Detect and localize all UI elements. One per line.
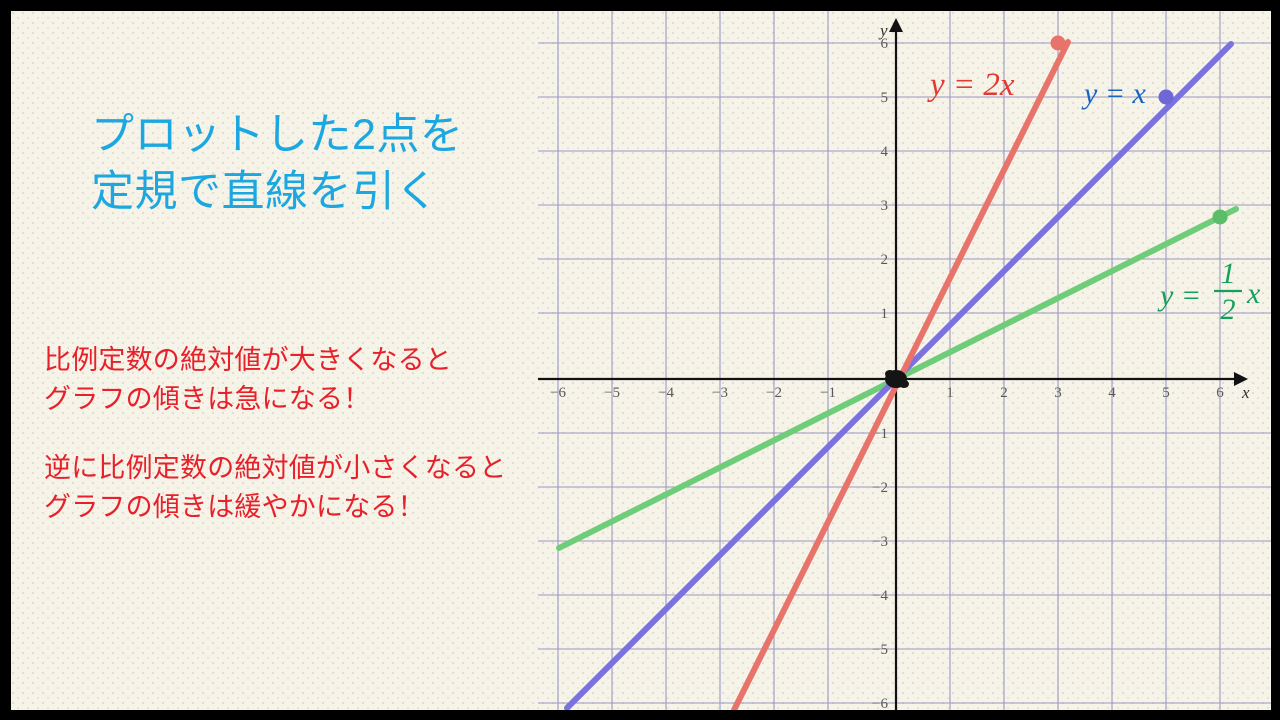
page-title: プロットした2点を 定規で直線を引く [91, 107, 463, 221]
coordinate-graph: −6 −5 −4 −3 −2 −1 1 2 3 4 5 6 6 5 4 3 2 … [538, 11, 1271, 710]
svg-text:4: 4 [1108, 385, 1116, 401]
svg-text:−3: −3 [872, 534, 888, 550]
point-marker-blue [1159, 90, 1174, 105]
svg-text:1: 1 [881, 306, 889, 322]
svg-text:1: 1 [1221, 257, 1236, 290]
slide-canvas: −6 −5 −4 −3 −2 −1 1 2 3 4 5 6 6 5 4 3 2 … [11, 11, 1271, 710]
equation-label-red: y = 2x [927, 67, 1015, 103]
note-text-2: 逆に比例定数の絶対値が小さくなると グラフの傾きは緩やかになる！ [44, 449, 506, 527]
svg-text:−3: −3 [712, 385, 728, 401]
svg-text:−1: −1 [820, 385, 836, 401]
note-text-1: 比例定数の絶対値が大きくなると グラフの傾きは急になる！ [44, 341, 452, 419]
equation-label-green: y = 1 2 x [1157, 257, 1261, 326]
svg-text:y =: y = [1157, 279, 1201, 312]
svg-text:4: 4 [881, 144, 889, 160]
svg-text:2: 2 [1000, 385, 1008, 401]
svg-text:3: 3 [1054, 385, 1062, 401]
svg-text:−4: −4 [658, 385, 674, 401]
svg-text:2: 2 [881, 252, 889, 268]
svg-text:1: 1 [946, 385, 954, 401]
point-marker-red [1051, 36, 1066, 51]
svg-text:−5: −5 [872, 642, 888, 658]
y-axis-arrow [889, 18, 903, 32]
y-axis-label: y [878, 21, 888, 40]
svg-text:−2: −2 [766, 385, 782, 401]
svg-text:−6: −6 [550, 385, 566, 401]
svg-text:5: 5 [1162, 385, 1170, 401]
svg-text:5: 5 [881, 90, 889, 106]
svg-text:−4: −4 [872, 588, 888, 604]
point-marker-green [1213, 210, 1228, 225]
svg-text:−2: −2 [872, 480, 888, 496]
x-axis-label: x [1241, 383, 1250, 402]
equation-label-blue: y = x [1081, 77, 1147, 110]
svg-text:6: 6 [1216, 385, 1224, 401]
svg-text:3: 3 [881, 198, 889, 214]
svg-text:2: 2 [1221, 293, 1236, 326]
svg-text:−5: −5 [604, 385, 620, 401]
axes [538, 18, 1248, 710]
svg-text:x: x [1246, 277, 1261, 310]
svg-text:−6: −6 [872, 696, 888, 710]
